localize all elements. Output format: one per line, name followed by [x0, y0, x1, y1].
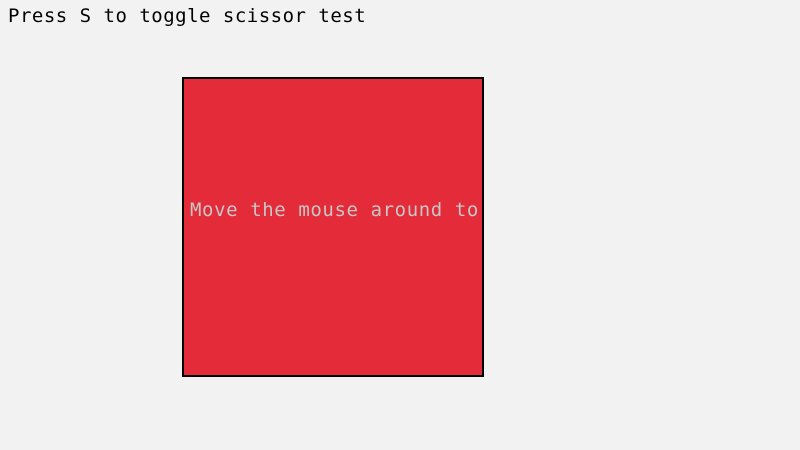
scissor-toggle-hint: Press S to toggle scissor test: [8, 5, 366, 27]
demo-canvas: Press S to toggle scissor test Move the …: [0, 0, 800, 450]
scissor-clipped-message: Move the mouse around to r: [190, 199, 484, 221]
scissor-test-rectangle[interactable]: Move the mouse around to r: [182, 77, 484, 377]
